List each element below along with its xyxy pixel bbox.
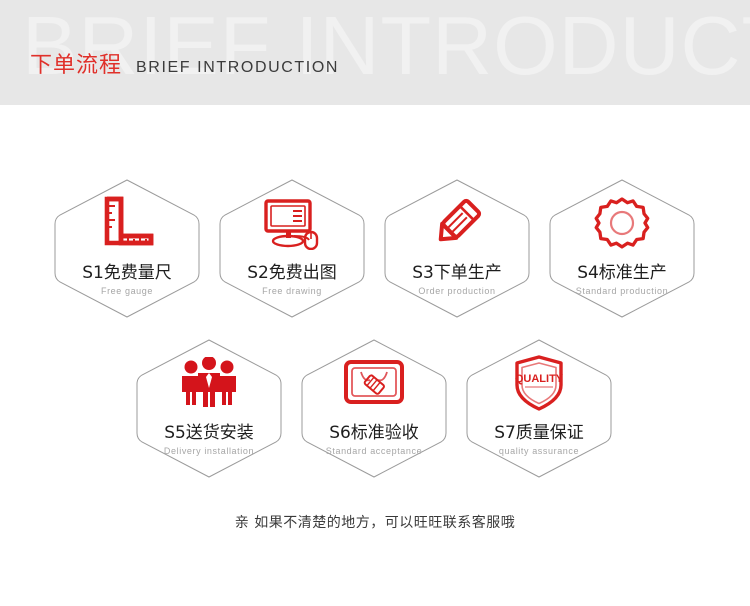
step-label-cn: S1免费量尺 xyxy=(82,258,172,283)
step-label-en: Order production xyxy=(418,286,495,296)
people-group-icon xyxy=(179,354,239,412)
step-label-en: Standard acceptance xyxy=(326,446,422,456)
step-label-cn: S4标准生产 xyxy=(577,258,667,283)
step-card-s6[interactable]: S6标准验收 Standard acceptance xyxy=(299,337,449,480)
quality-shield-icon: QUALITY xyxy=(513,354,565,412)
page-title-chinese: 下单流程 xyxy=(30,47,122,79)
step-label-cn: S6标准验收 xyxy=(329,418,419,443)
step-label-en: Standard production xyxy=(576,286,668,296)
step-label-en: Delivery installation xyxy=(164,446,254,456)
step-label-en: Free gauge xyxy=(101,286,153,296)
process-steps-grid: S1免费量尺 Free gauge xyxy=(0,105,750,505)
footnote-text: 亲 如果不清楚的地方，可以旺旺联系客服哦 xyxy=(0,512,750,532)
step-card-s2[interactable]: S2免费出图 Free drawing xyxy=(217,177,367,320)
step-card-s7[interactable]: QUALITY S7质量保证 quality assurance xyxy=(464,337,614,480)
step-label-cn: S5送货安装 xyxy=(164,418,254,443)
ruler-icon xyxy=(100,194,154,252)
step-card-s4[interactable]: S4标准生产 Standard production xyxy=(547,177,697,320)
monitor-mouse-icon xyxy=(261,194,323,252)
page-title-english: BRIEF INTRODUCTION xyxy=(136,59,339,77)
header-title-row: 下单流程 BRIEF INTRODUCTION xyxy=(30,47,339,79)
step-label-cn: S3下单生产 xyxy=(412,258,502,283)
step-label-cn: S7质量保证 xyxy=(494,418,584,443)
gear-icon xyxy=(594,194,650,252)
step-label-en: Free drawing xyxy=(262,286,322,296)
quality-badge-text: QUALITY xyxy=(515,373,564,385)
step-label-cn: S2免费出图 xyxy=(247,258,337,283)
page-header: BRIEF INTRODUCTIO 下单流程 BRIEF INTRODUCTIO… xyxy=(0,0,750,105)
step-card-s3[interactable]: S3下单生产 Order production xyxy=(382,177,532,320)
step-label-en: quality assurance xyxy=(499,446,579,456)
step-card-s5[interactable]: S5送货安装 Delivery installation xyxy=(134,337,284,480)
step-card-s1[interactable]: S1免费量尺 Free gauge xyxy=(52,177,202,320)
handshake-frame-icon xyxy=(343,354,405,412)
pencil-icon xyxy=(430,194,484,252)
